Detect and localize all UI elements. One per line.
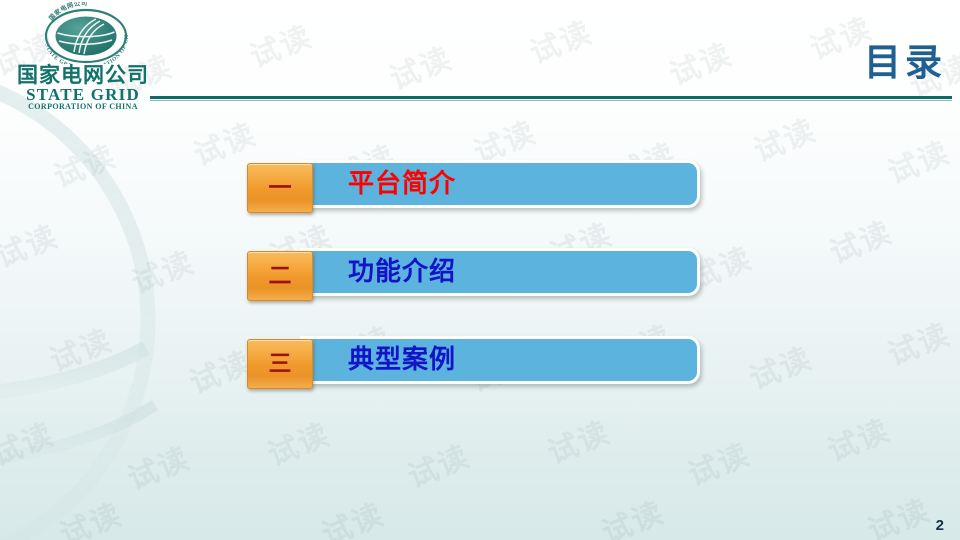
agenda-label-2: 功能介绍 [348, 259, 456, 285]
logo-company-name-en: STATE GRID [8, 86, 158, 103]
agenda-number-2: 二 [269, 265, 292, 288]
page-title: 目录 [864, 32, 946, 86]
watermark-text: 试读 [46, 132, 122, 197]
watermark-text: 试读 [746, 106, 822, 171]
watermark-text: 试读 [124, 238, 200, 303]
agenda-label-1: 平台简介 [348, 171, 456, 197]
agenda-bar-1[interactable]: 平台简介 [300, 160, 700, 208]
watermark-text: 试读 [0, 212, 64, 277]
watermark-text: 试读 [314, 490, 390, 540]
watermark-text: 试读 [260, 410, 336, 475]
watermark-text: 试读 [120, 434, 196, 499]
watermark-text: 试读 [822, 208, 898, 273]
logo-company-name-cn: 国家电网公司 [8, 64, 158, 86]
agenda-number-box-2[interactable]: 二 [247, 251, 313, 301]
watermark-text: 试读 [680, 430, 756, 495]
agenda-bar-3[interactable]: 典型案例 [300, 336, 700, 384]
watermark-text: 试读 [42, 316, 118, 381]
watermark-text: 试读 [0, 410, 60, 475]
agenda-number-1: 一 [269, 177, 292, 200]
watermark-text: 试读 [522, 8, 598, 73]
watermark-text: 试读 [382, 34, 458, 99]
agenda-bar-2[interactable]: 功能介绍 [300, 248, 700, 296]
watermark-text: 试读 [594, 488, 670, 540]
watermark-text: 试读 [880, 310, 956, 375]
state-grid-globe-emblem: 国家电网公司 STATE GRID CORPORATION OF CHINA [34, 2, 138, 64]
agenda-number-box-1[interactable]: 一 [247, 163, 313, 213]
agenda-number-box-3[interactable]: 三 [247, 339, 313, 389]
watermark-text: 试读 [860, 486, 936, 540]
title-divider-rule [150, 96, 952, 99]
watermark-text: 试读 [242, 12, 318, 77]
logo-company-subtitle: CORPORATION OF CHINA [8, 103, 158, 111]
watermark-text: 试读 [880, 128, 956, 193]
watermark-text: 试读 [820, 406, 896, 471]
state-grid-logo: 国家电网公司 STATE GRID CORPORATION OF CHINA 国… [8, 2, 158, 114]
watermark-text: 试读 [540, 408, 616, 473]
watermark-text: 试读 [662, 30, 738, 95]
agenda-label-3: 典型案例 [348, 347, 456, 373]
page-number: 2 [936, 517, 944, 534]
agenda-number-3: 三 [269, 353, 292, 376]
slide-canvas: 试读 试读 试读 试读 试读 试读 试读 试读 试读 试读 试读 试读 试读 试… [0, 0, 960, 540]
watermark-text: 试读 [742, 334, 818, 399]
title-divider-rule-thin [150, 100, 952, 101]
watermark-text: 试读 [52, 490, 128, 540]
watermark-text: 试读 [400, 432, 476, 497]
